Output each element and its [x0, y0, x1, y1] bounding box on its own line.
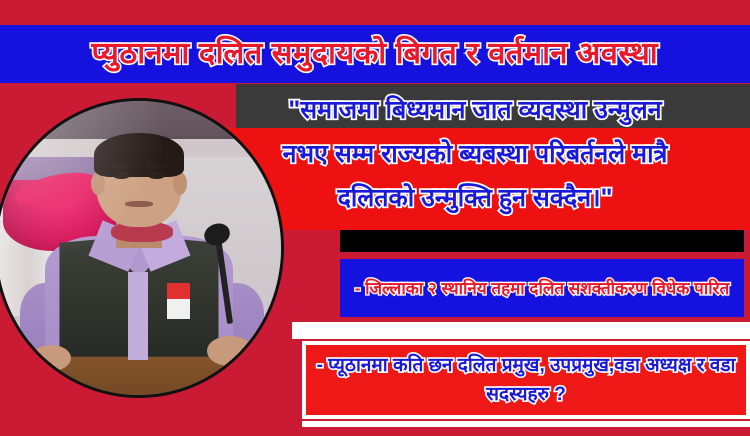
photo-shirt-placket — [128, 272, 148, 360]
question-box: - प्यूठानमा कति छन दलित प्रमुख, उपप्रमुख… — [302, 341, 750, 419]
photo-hand-right — [207, 336, 252, 365]
photo-gloss-highlight — [0, 98, 167, 263]
white-separator — [292, 322, 750, 339]
question-box-underline — [302, 421, 750, 427]
subheadline-text: - जिल्लाका २ स्थानिय तहमा दलित सशक्तीकरण… — [347, 276, 738, 301]
black-divider-strip — [340, 230, 744, 252]
subheadline-box: - जिल्लाका २ स्थानिय तहमा दलित सशक्तीकरण… — [340, 259, 744, 317]
quote-dark-band — [236, 84, 750, 128]
photo-flag-pin — [167, 283, 190, 318]
question-text: - प्यूठानमा कति छन दलित प्रमुख, उपप्रमुख… — [306, 351, 746, 409]
poster-title-bar: प्युठानमा दलित समुदायको बिगत र वर्तमान अ… — [0, 25, 750, 83]
page-title: प्युठानमा दलित समुदायको बिगत र वर्तमान अ… — [92, 39, 659, 69]
speaker-portrait — [0, 98, 284, 398]
poster-canvas: प्युठानमा दलित समुदायको बिगत र वर्तमान अ… — [0, 0, 750, 436]
